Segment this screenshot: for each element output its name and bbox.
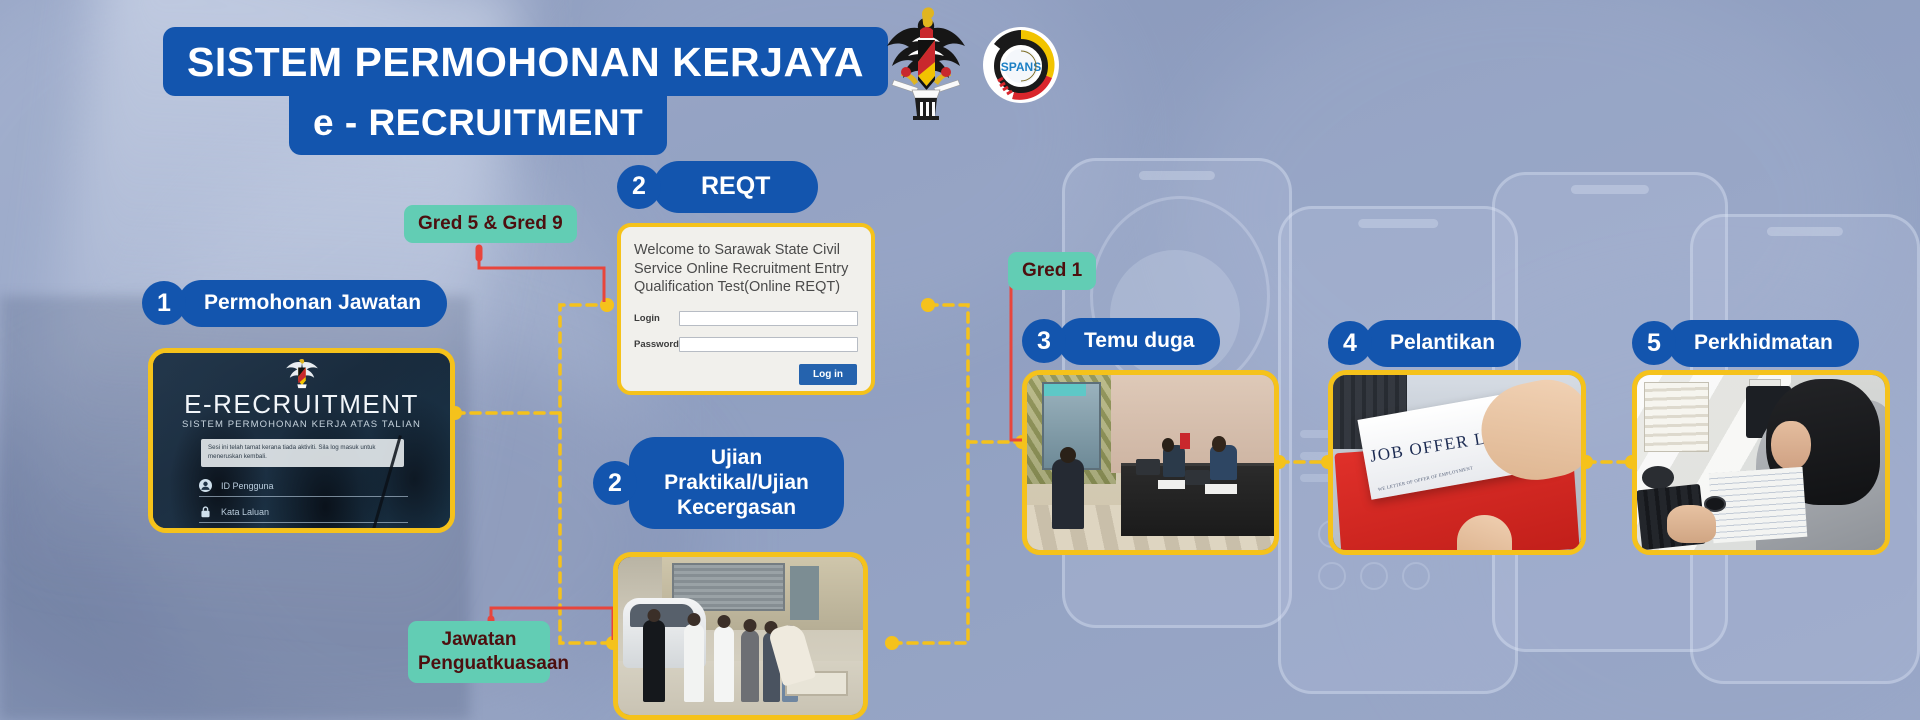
practical-person (684, 624, 704, 702)
practical-test-photo (618, 557, 863, 715)
erecruitment-session-notice: Sesi ini telah tamat kerana tiada aktivi… (201, 439, 404, 467)
service-file-stack (1644, 382, 1708, 452)
offer-letter-photo: JOB OFFER LETTER WE LETTER OF OFFER OF E… (1333, 375, 1581, 550)
reqt-password-input[interactable] (679, 337, 858, 352)
interview-photo (1027, 375, 1274, 550)
card-interview[interactable] (1022, 370, 1279, 555)
erecruitment-title: E-RECRUITMENT (153, 389, 450, 420)
step-4-pelantikan[interactable]: 4 Pelantikan (1328, 320, 1521, 367)
step-4-number: 4 (1328, 321, 1372, 365)
sarawak-state-crest-icon (884, 6, 968, 124)
interview-screen-label (1044, 384, 1086, 396)
step-5-label: Perkhidmatan (1668, 320, 1859, 367)
interview-wall (1111, 375, 1274, 473)
reqt-password-label: Password (634, 339, 679, 350)
card-job-offer-letter[interactable]: JOB OFFER LETTER WE LETTER OF OFFER OF E… (1328, 370, 1586, 555)
background-ghost-key (1402, 562, 1430, 590)
tag-jawatan-penguatkuasaan: Jawatan Penguatkuasaan (408, 621, 550, 683)
tag-gred-5-and-9: Gred 5 & Gred 9 (404, 205, 577, 243)
service-officer-hand (1667, 505, 1717, 544)
step-2-reqt[interactable]: 2 REQT (617, 161, 818, 213)
erecruitment-subtitle: SISTEM PERMOHONAN KERJA ATAS TALIAN (153, 419, 450, 430)
step-2-reqt-number: 2 (617, 165, 661, 209)
erecruitment-user-field[interactable]: ID Pengguna (199, 479, 408, 497)
interview-paper (1158, 480, 1185, 489)
reqt-login-label: Login (634, 313, 679, 324)
erecruitment-crest-icon (283, 359, 321, 389)
background-ghost-key (1318, 562, 1346, 590)
step-4-label: Pelantikan (1364, 320, 1521, 367)
practical-person (714, 626, 734, 702)
step-2-reqt-label: REQT (653, 161, 818, 213)
interview-paper (1205, 484, 1237, 495)
service-officer-face (1771, 421, 1811, 470)
practical-person (643, 620, 665, 702)
reqt-password-row: Password (621, 335, 871, 352)
erecruitment-password-placeholder: Kata Laluan (221, 507, 269, 517)
spans-logo-icon: SPANS (982, 26, 1060, 104)
interview-panelist-head (1162, 438, 1174, 452)
reqt-login-input[interactable] (679, 311, 858, 326)
interview-flag (1180, 433, 1190, 449)
interview-candidate (1052, 459, 1084, 529)
erecruitment-user-placeholder: ID Pengguna (221, 481, 274, 491)
erecruitment-screenshot: E-RECRUITMENT SISTEM PERMOHONAN KERJA AT… (153, 353, 450, 528)
step-2-ujian-praktikal[interactable]: 2 Ujian Praktikal/Ujian Kecergasan (593, 437, 844, 529)
step-2-ujian-label: Ujian Praktikal/Ujian Kecergasan (629, 437, 844, 529)
title-line-1: SISTEM PERMOHONAN KERJAYA (163, 27, 888, 96)
step-5-perkhidmatan[interactable]: 5 Perkhidmatan (1632, 320, 1859, 367)
lock-icon (199, 505, 212, 518)
step-2-ujian-number: 2 (593, 461, 637, 505)
reqt-footer: Log in (621, 352, 871, 395)
practical-door (790, 566, 819, 620)
step-1-permohonan-jawatan[interactable]: 1 Permohonan Jawatan (142, 280, 447, 327)
logo-group: SPANS (884, 6, 1060, 124)
service-mouse (1642, 466, 1674, 489)
card-service[interactable] (1632, 370, 1890, 555)
tag-gred-1: Gred 1 (1008, 252, 1096, 290)
step-5-number: 5 (1632, 321, 1676, 365)
reqt-login-panel[interactable]: Welcome to Sarawak State Civil Service O… (617, 223, 875, 395)
reqt-login-button[interactable]: Log in (799, 364, 857, 385)
card-practical-test[interactable] (613, 552, 868, 720)
card-erecruitment-login[interactable]: E-RECRUITMENT SISTEM PERMOHONAN KERJA AT… (148, 348, 455, 533)
reqt-login-row: Login (621, 309, 871, 326)
page-title: SISTEM PERMOHONAN KERJAYA e - RECRUITMEN… (163, 27, 888, 155)
title-line-2: e - RECRUITMENT (289, 94, 667, 155)
step-1-label: Permohonan Jawatan (178, 280, 447, 327)
practical-person (741, 630, 759, 702)
step-1-number: 1 (142, 281, 186, 325)
service-photo (1637, 375, 1885, 550)
step-3-temu-duga[interactable]: 3 Temu duga (1022, 318, 1220, 365)
step-3-number: 3 (1022, 319, 1066, 363)
reqt-welcome-text: Welcome to Sarawak State Civil Service O… (621, 227, 871, 303)
interview-panelist-head (1212, 436, 1226, 452)
background-ghost-key (1360, 562, 1388, 590)
interview-laptop (1136, 459, 1161, 475)
step-3-label: Temu duga (1058, 318, 1220, 365)
user-icon (199, 479, 212, 492)
